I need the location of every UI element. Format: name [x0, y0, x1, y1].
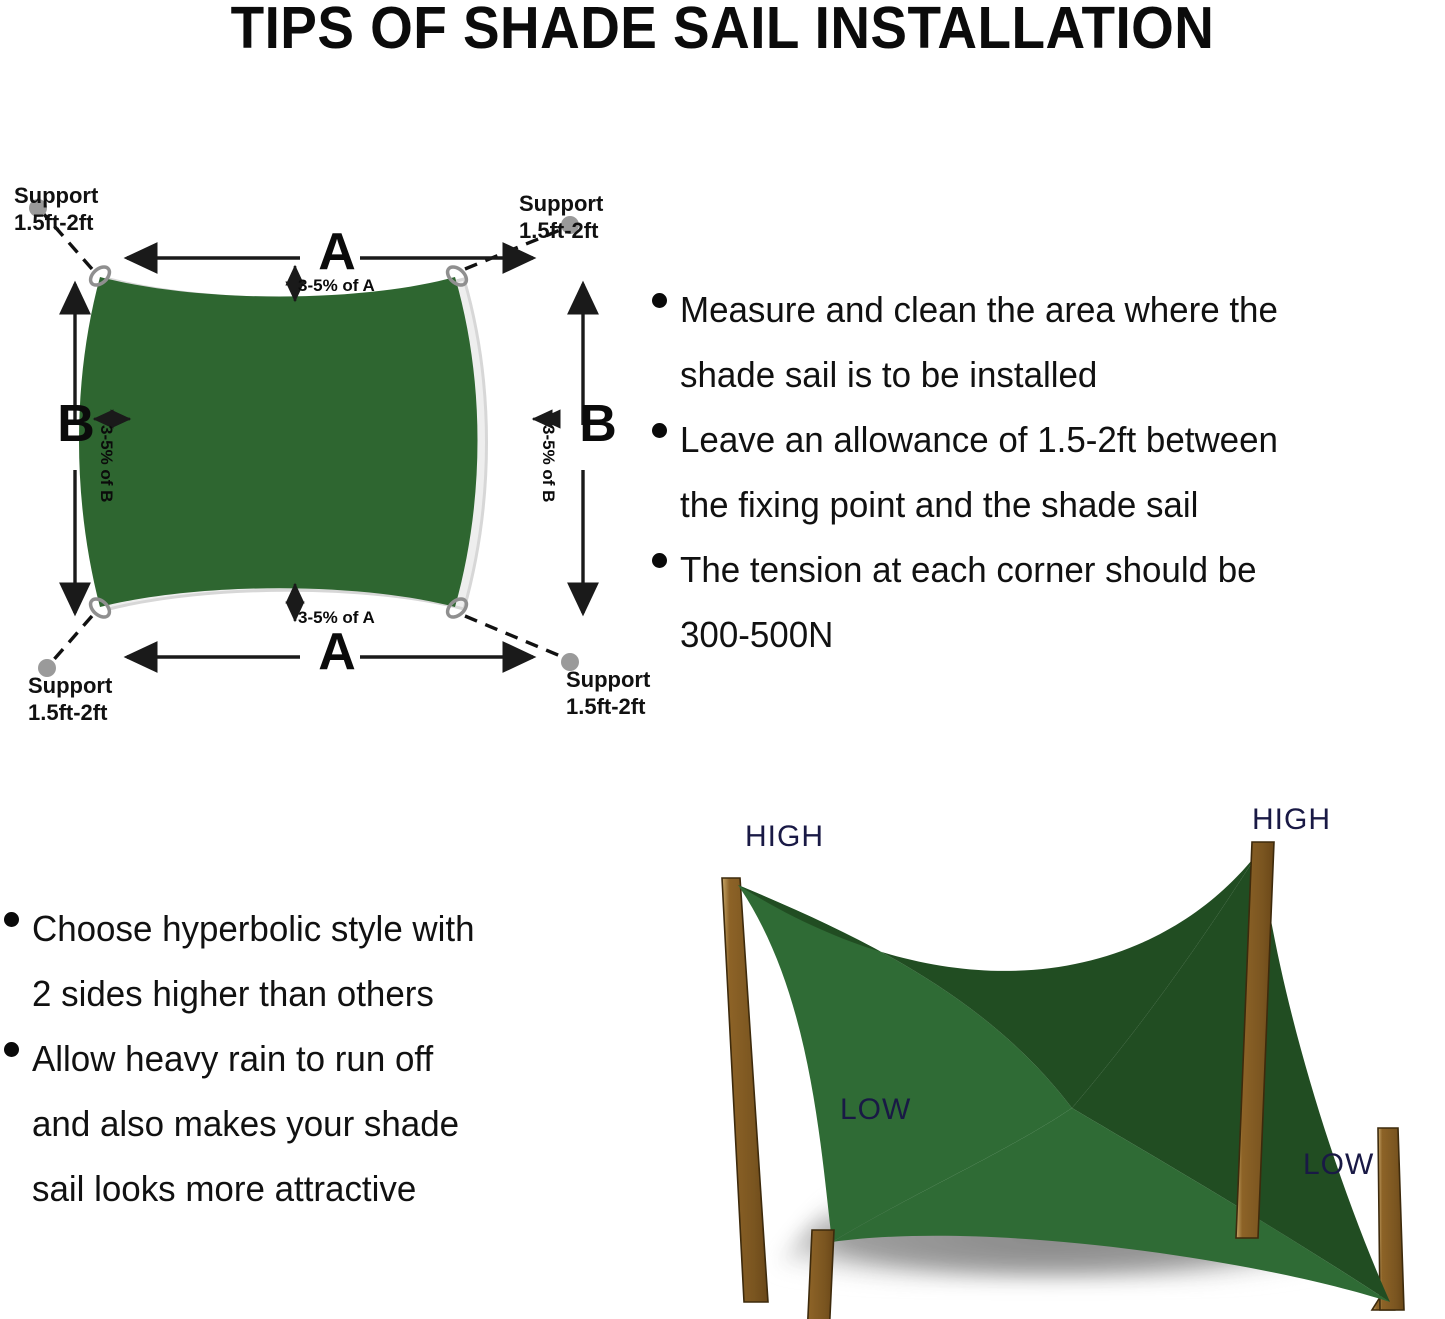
post-label-left-low: LOW	[840, 1093, 911, 1127]
label-left-B-text: B	[57, 395, 95, 453]
support-label-top-left-line2: 1.5ft-2ft	[14, 209, 98, 236]
tip-4-text: Choose hyperbolic style with 2 sides hig…	[32, 896, 475, 1026]
label-bottom-A: A	[307, 626, 367, 678]
list-item: Choose hyperbolic style with 2 sides hig…	[4, 896, 624, 1026]
bullet-dot-icon	[4, 912, 19, 927]
support-label-top-left: Support 1.5ft-2ft	[14, 182, 98, 236]
tip-2-text: Leave an allowance of 1.5-2ft between th…	[680, 407, 1278, 537]
bullet-dot-icon	[4, 1042, 19, 1057]
post-label-left-high-text: HIGH	[745, 820, 824, 853]
support-label-top-right-line1: Support	[519, 190, 603, 217]
sag-label-top-text: 3-5% of A	[298, 276, 375, 295]
post-label-right-low: LOW	[1303, 1148, 1374, 1182]
post-label-right-high: HIGH	[1252, 803, 1331, 837]
post-label-left-low-text: LOW	[840, 1093, 911, 1126]
post-label-right-low-text: LOW	[1303, 1148, 1374, 1181]
sag-label-right: 3-5% of B	[538, 425, 558, 502]
support-label-top-right-line2: 1.5ft-2ft	[519, 217, 603, 244]
hyperbolic-sail-diagram	[660, 790, 1445, 1319]
page-title: TIPS OF SHADE SAIL INSTALLATION	[51, 0, 1395, 62]
support-label-bottom-right-line1: Support	[566, 666, 650, 693]
list-item: The tension at each corner should be 300…	[652, 537, 1445, 667]
tip-1-text: Measure and clean the area where the sha…	[680, 277, 1278, 407]
label-top-A-text: A	[318, 223, 356, 281]
post-label-right-high-text: HIGH	[1252, 803, 1331, 836]
list-item: Leave an allowance of 1.5-2ft between th…	[652, 407, 1445, 537]
sail-surface	[738, 850, 1390, 1302]
post-label-left-high: HIGH	[745, 820, 824, 854]
sag-label-bottom-text: 3-5% of A	[298, 608, 375, 627]
tip-5-text: Allow heavy rain to run off and also mak…	[32, 1026, 459, 1221]
support-label-bottom-left-line1: Support	[28, 672, 112, 699]
installation-tips-list: Measure and clean the area where the sha…	[652, 277, 1445, 667]
sag-label-bottom: 3-5% of A	[298, 608, 375, 628]
list-item: Measure and clean the area where the sha…	[652, 277, 1445, 407]
list-item: Allow heavy rain to run off and also mak…	[4, 1026, 624, 1221]
tip-3-text: The tension at each corner should be 300…	[680, 537, 1257, 667]
label-bottom-A-text: A	[318, 623, 356, 681]
support-label-top-right: Support 1.5ft-2ft	[519, 190, 603, 244]
sail-shape	[79, 277, 487, 609]
label-right-B-text: B	[579, 395, 617, 453]
hyperbolic-style-tips-list: Choose hyperbolic style with 2 sides hig…	[4, 896, 624, 1221]
support-label-bottom-left: Support 1.5ft-2ft	[28, 672, 112, 726]
bullet-dot-icon	[652, 423, 667, 438]
support-label-bottom-left-line2: 1.5ft-2ft	[28, 699, 112, 726]
label-right-B: B	[570, 398, 626, 450]
post-left-high	[722, 878, 768, 1302]
installation-tips-infographic: TIPS OF SHADE SAIL INSTALLATION	[0, 0, 1445, 1319]
bullet-dot-icon	[652, 293, 667, 308]
sag-label-left: 3-5% of B	[96, 425, 116, 502]
sag-label-right-text: 3-5% of B	[539, 425, 558, 502]
support-label-bottom-right-line2: 1.5ft-2ft	[566, 693, 650, 720]
label-top-A: A	[307, 226, 367, 278]
support-label-top-left-line1: Support	[14, 182, 98, 209]
bullet-dot-icon	[652, 553, 667, 568]
sag-label-left-text: 3-5% of B	[97, 425, 116, 502]
support-label-bottom-right: Support 1.5ft-2ft	[566, 666, 650, 720]
sag-label-top: 3-5% of A	[298, 276, 375, 296]
